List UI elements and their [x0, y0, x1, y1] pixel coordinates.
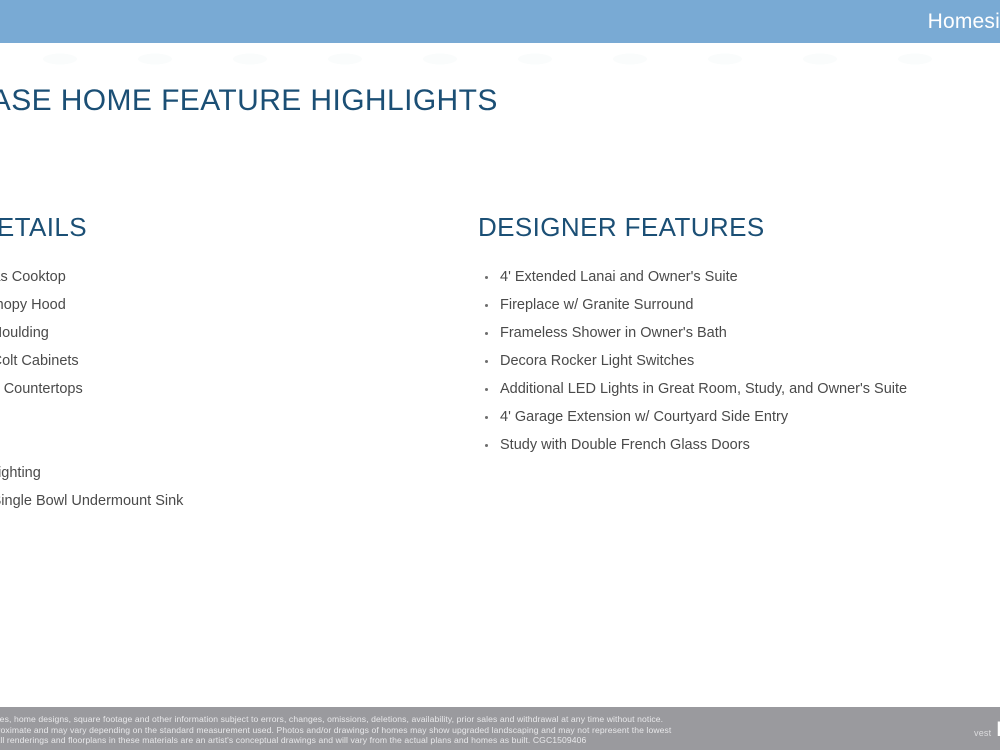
designer-features-column: DESIGNER FEATURES 4' Extended Lanai and …: [478, 212, 907, 466]
list-item: t Crown Moulding: [0, 326, 183, 341]
bullet-icon: [485, 360, 488, 363]
list-item: Cabinet Lighting: [0, 466, 183, 481]
disclaimer-text: mesites, amenities, home designs, square…: [0, 714, 966, 746]
disclaimer-line: he community. All renderings and floorpl…: [0, 735, 966, 746]
list-item: Frameless Shower in Owner's Bath: [478, 326, 907, 341]
list-item: Study with Double French Glass Doors: [478, 438, 907, 453]
list-item-label: 4' Garage Extension w/ Courtyard Side En…: [500, 409, 788, 425]
bullet-icon: [485, 388, 488, 391]
list-item: ooring: [0, 410, 183, 425]
page-title: WCASE HOME FEATURE HIGHLIGHTS: [0, 84, 498, 118]
list-item: Fireplace w/ Granite Surround: [478, 298, 907, 313]
list-item: ne Quartz Countertops: [0, 382, 183, 397]
list-item-label: -Style Canopy Hood: [0, 297, 66, 313]
disclaimer-line: umbers are approximate and may vary depe…: [0, 725, 966, 736]
header-title: Homesit: [928, 10, 1000, 34]
list-item-label: ne Quartz Countertops: [0, 381, 83, 397]
bullet-icon: [485, 276, 488, 279]
footer-disclaimer-bar: mesites, amenities, home designs, square…: [0, 707, 1000, 750]
logo-wordmark: K: [996, 718, 1000, 742]
list-item-label: 4' Extended Lanai and Owner's Suite: [500, 269, 738, 285]
list-item: -Style Canopy Hood: [0, 298, 183, 313]
list-item-label: Study with Double French Glass Doors: [500, 437, 750, 453]
list-item: d Maple Colt Cabinets: [0, 354, 183, 369]
designer-features-heading: DESIGNER FEATURES: [478, 212, 907, 243]
kitchen-details-heading: HEN DETAILS: [0, 212, 183, 243]
list-item-label: Decora Rocker Light Switches: [500, 353, 694, 369]
bullet-icon: [485, 444, 488, 447]
list-item-label: Fireplace w/ Granite Surround: [500, 297, 693, 313]
list-item-label: Frameless Shower in Owner's Bath: [500, 325, 727, 341]
brand-logo: vest K: [974, 718, 1000, 742]
bullet-icon: [485, 304, 488, 307]
list-item-label: d Maple Colt Cabinets: [0, 353, 79, 369]
list-item-label: Cabinet Lighting: [0, 465, 41, 481]
list-item-label: Profile Gas Cooktop: [0, 269, 66, 285]
list-item: Profile Gas Cooktop: [0, 270, 183, 285]
list-item: 4' Garage Extension w/ Courtyard Side En…: [478, 410, 907, 425]
list-item: ss Steel Single Bowl Undermount Sink: [0, 494, 183, 509]
list-item: Additional LED Lights in Great Room, Stu…: [478, 382, 907, 397]
bullet-icon: [485, 332, 488, 335]
paper-texture-band: [0, 43, 1000, 77]
disclaimer-line: mesites, amenities, home designs, square…: [0, 714, 966, 725]
list-item: 4' Extended Lanai and Owner's Suite: [478, 270, 907, 285]
list-item-label: ss Steel Single Bowl Undermount Sink: [0, 493, 183, 509]
list-item-label: t Crown Moulding: [0, 325, 49, 341]
top-header-bar: Homesit: [0, 0, 1000, 43]
kitchen-details-column: HEN DETAILS Profile Gas Cooktop -Style C…: [0, 212, 183, 522]
list-item: Decora Rocker Light Switches: [478, 354, 907, 369]
list-item: t Lighting: [0, 438, 183, 453]
kitchen-details-list: Profile Gas Cooktop -Style Canopy Hood t…: [0, 270, 183, 509]
bullet-icon: [485, 416, 488, 419]
designer-features-list: 4' Extended Lanai and Owner's Suite Fire…: [478, 270, 907, 453]
list-item-label: Additional LED Lights in Great Room, Stu…: [500, 381, 907, 397]
logo-tagline: vest: [974, 728, 991, 738]
